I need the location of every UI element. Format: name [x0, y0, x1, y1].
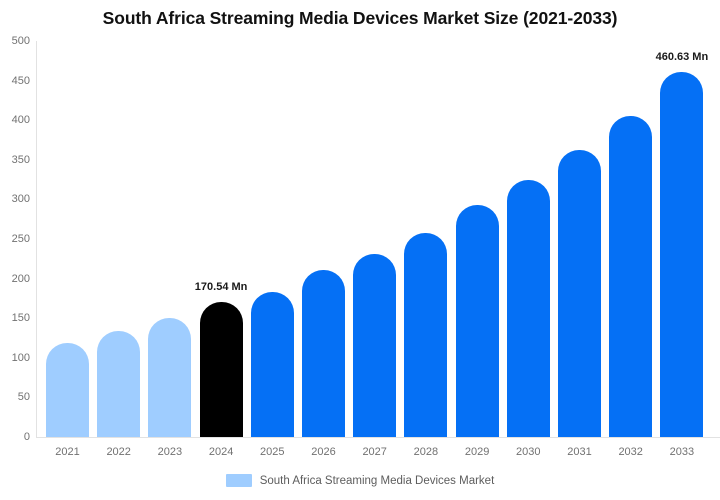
x-tick-label-2028: 2028: [404, 446, 447, 458]
x-tick-label-2025: 2025: [251, 446, 294, 458]
y-tick-label: 300: [12, 193, 30, 205]
legend-label: South Africa Streaming Media Devices Mar…: [260, 475, 495, 487]
bar-value-label-2033: 460.63 Mn: [656, 51, 709, 63]
chart-legend: South Africa Streaming Media Devices Mar…: [0, 474, 720, 487]
x-tick-label-2023: 2023: [148, 446, 191, 458]
x-tick-label-2022: 2022: [97, 446, 140, 458]
y-tick-label: 400: [12, 114, 30, 126]
y-tick-label: 100: [12, 352, 30, 364]
bar-2033[interactable]: [660, 72, 703, 437]
y-tick-label: 200: [12, 273, 30, 285]
bar-2021[interactable]: [46, 343, 89, 437]
bar-2025[interactable]: [251, 292, 294, 437]
y-tick-label: 150: [12, 312, 30, 324]
y-tick-label: 350: [12, 154, 30, 166]
y-tick-label: 500: [12, 35, 30, 47]
bar-2032[interactable]: [609, 116, 652, 437]
bar-2029[interactable]: [456, 205, 499, 437]
y-tick-label: 50: [18, 391, 30, 403]
chart-title: South Africa Streaming Media Devices Mar…: [0, 8, 720, 29]
bar-value-label-2024: 170.54 Mn: [195, 281, 248, 293]
plot-area: 170.54 Mn460.63 Mn: [36, 41, 720, 437]
bar-chart: South Africa Streaming Media Devices Mar…: [0, 0, 720, 500]
bar-2024[interactable]: [200, 302, 243, 437]
bar-2023[interactable]: [148, 318, 191, 437]
bar-2022[interactable]: [97, 331, 140, 437]
bar-2031[interactable]: [558, 150, 601, 437]
x-tick-label-2032: 2032: [609, 446, 652, 458]
y-tick-label: 450: [12, 75, 30, 87]
x-tick-label-2031: 2031: [558, 446, 601, 458]
y-tick-label: 250: [12, 233, 30, 245]
y-axis-tick-labels: 050100150200250300350400450500: [0, 0, 30, 500]
bar-2030[interactable]: [507, 180, 550, 437]
x-tick-label-2029: 2029: [456, 446, 499, 458]
x-tick-label-2024: 2024: [200, 446, 243, 458]
y-tick-label: 0: [24, 431, 30, 443]
x-axis-line: [36, 437, 720, 438]
x-tick-label-2021: 2021: [46, 446, 89, 458]
bar-2027[interactable]: [353, 254, 396, 437]
x-tick-label-2030: 2030: [507, 446, 550, 458]
x-tick-label-2033: 2033: [660, 446, 703, 458]
legend-swatch-icon: [226, 474, 252, 487]
x-tick-label-2027: 2027: [353, 446, 396, 458]
x-tick-label-2026: 2026: [302, 446, 345, 458]
bar-2026[interactable]: [302, 270, 345, 437]
bar-2028[interactable]: [404, 233, 447, 437]
